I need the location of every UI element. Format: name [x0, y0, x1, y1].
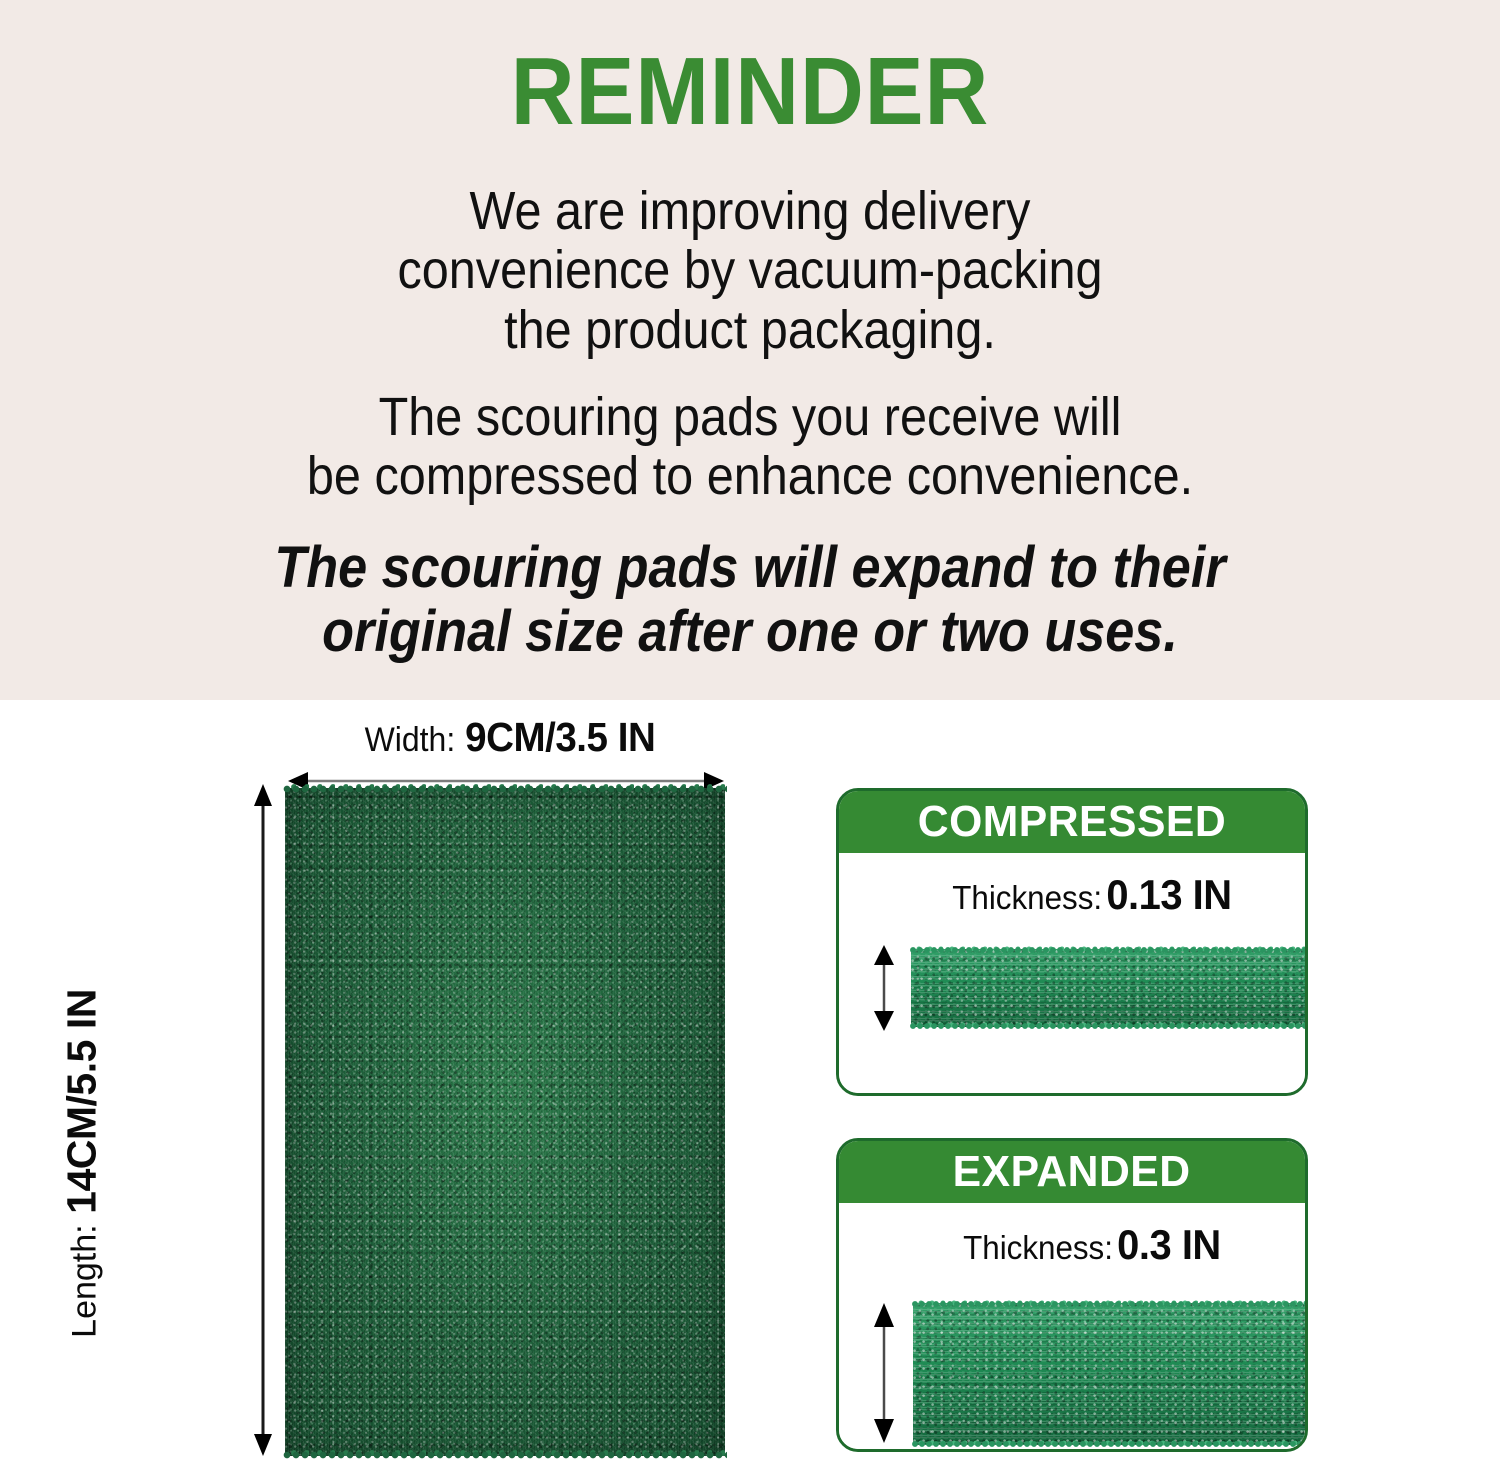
compressed-thickness-lead: Thickness: [952, 879, 1102, 916]
compressed-card: COMPRESSED Thickness: 0.13 IN [836, 788, 1308, 1096]
width-label-value: 9CM/3.5 IN [465, 714, 655, 760]
banner-paragraph-1-line-1: We are improving delivery [75, 182, 1425, 241]
expanded-card-header: EXPANDED [839, 1141, 1305, 1203]
length-label: Length: 14CM/5.5 IN [59, 884, 106, 1444]
banner-paragraph-2-line-2: be compressed to enhance convenience. [75, 447, 1425, 506]
length-dimension-arrow-icon [252, 784, 274, 1456]
expanded-pad-image [913, 1303, 1305, 1445]
compressed-card-title: COMPRESSED [918, 797, 1226, 847]
width-label-lead: Width: [365, 721, 456, 759]
expanded-thickness-arrow-icon [873, 1303, 895, 1443]
compressed-thickness-label: Thickness: 0.13 IN [851, 871, 1294, 919]
banner-paragraph-1-line-3: the product packaging. [75, 301, 1425, 360]
reminder-banner: REMINDER We are improving delivery conve… [0, 0, 1500, 700]
expanded-card-title: EXPANDED [953, 1147, 1191, 1197]
expanded-thickness-value: 0.3 IN [1117, 1221, 1221, 1268]
length-label-lead: Length: [66, 1224, 104, 1337]
banner-paragraph-3: The scouring pads will expand to their o… [75, 536, 1425, 664]
banner-paragraph-2-line-1: The scouring pads you receive will [75, 388, 1425, 447]
product-dimensions-panel: Width: 9CM/3.5 IN Length: 14CM/5.5 IN CO… [0, 700, 1500, 1464]
banner-paragraph-3-line-2: original size after one or two uses. [75, 600, 1425, 664]
expanded-thickness-label: Thickness: 0.3 IN [851, 1221, 1294, 1269]
compressed-card-body: Thickness: 0.13 IN [839, 853, 1305, 1093]
expanded-card: EXPANDED Thickness: 0.3 IN [836, 1138, 1308, 1452]
banner-paragraph-2: The scouring pads you receive will be co… [75, 388, 1425, 507]
width-label: Width: 9CM/3.5 IN [275, 714, 745, 761]
infographic-page: REMINDER We are improving delivery conve… [0, 0, 1500, 1464]
banner-paragraph-1-line-2: convenience by vacuum-packing [75, 241, 1425, 300]
banner-paragraph-3-line-1: The scouring pads will expand to their [75, 536, 1425, 600]
expanded-card-body: Thickness: 0.3 IN [839, 1203, 1305, 1449]
compressed-card-header: COMPRESSED [839, 791, 1305, 853]
expanded-thickness-lead: Thickness: [963, 1229, 1113, 1266]
banner-paragraph-1: We are improving delivery convenience by… [75, 182, 1425, 360]
compressed-pad-image [911, 949, 1305, 1027]
page-title: REMINDER [60, 44, 1440, 140]
compressed-thickness-value: 0.13 IN [1106, 871, 1231, 918]
scouring-pad-image [285, 788, 725, 1456]
length-label-value: 14CM/5.5 IN [59, 989, 105, 1214]
compressed-thickness-arrow-icon [873, 945, 895, 1031]
